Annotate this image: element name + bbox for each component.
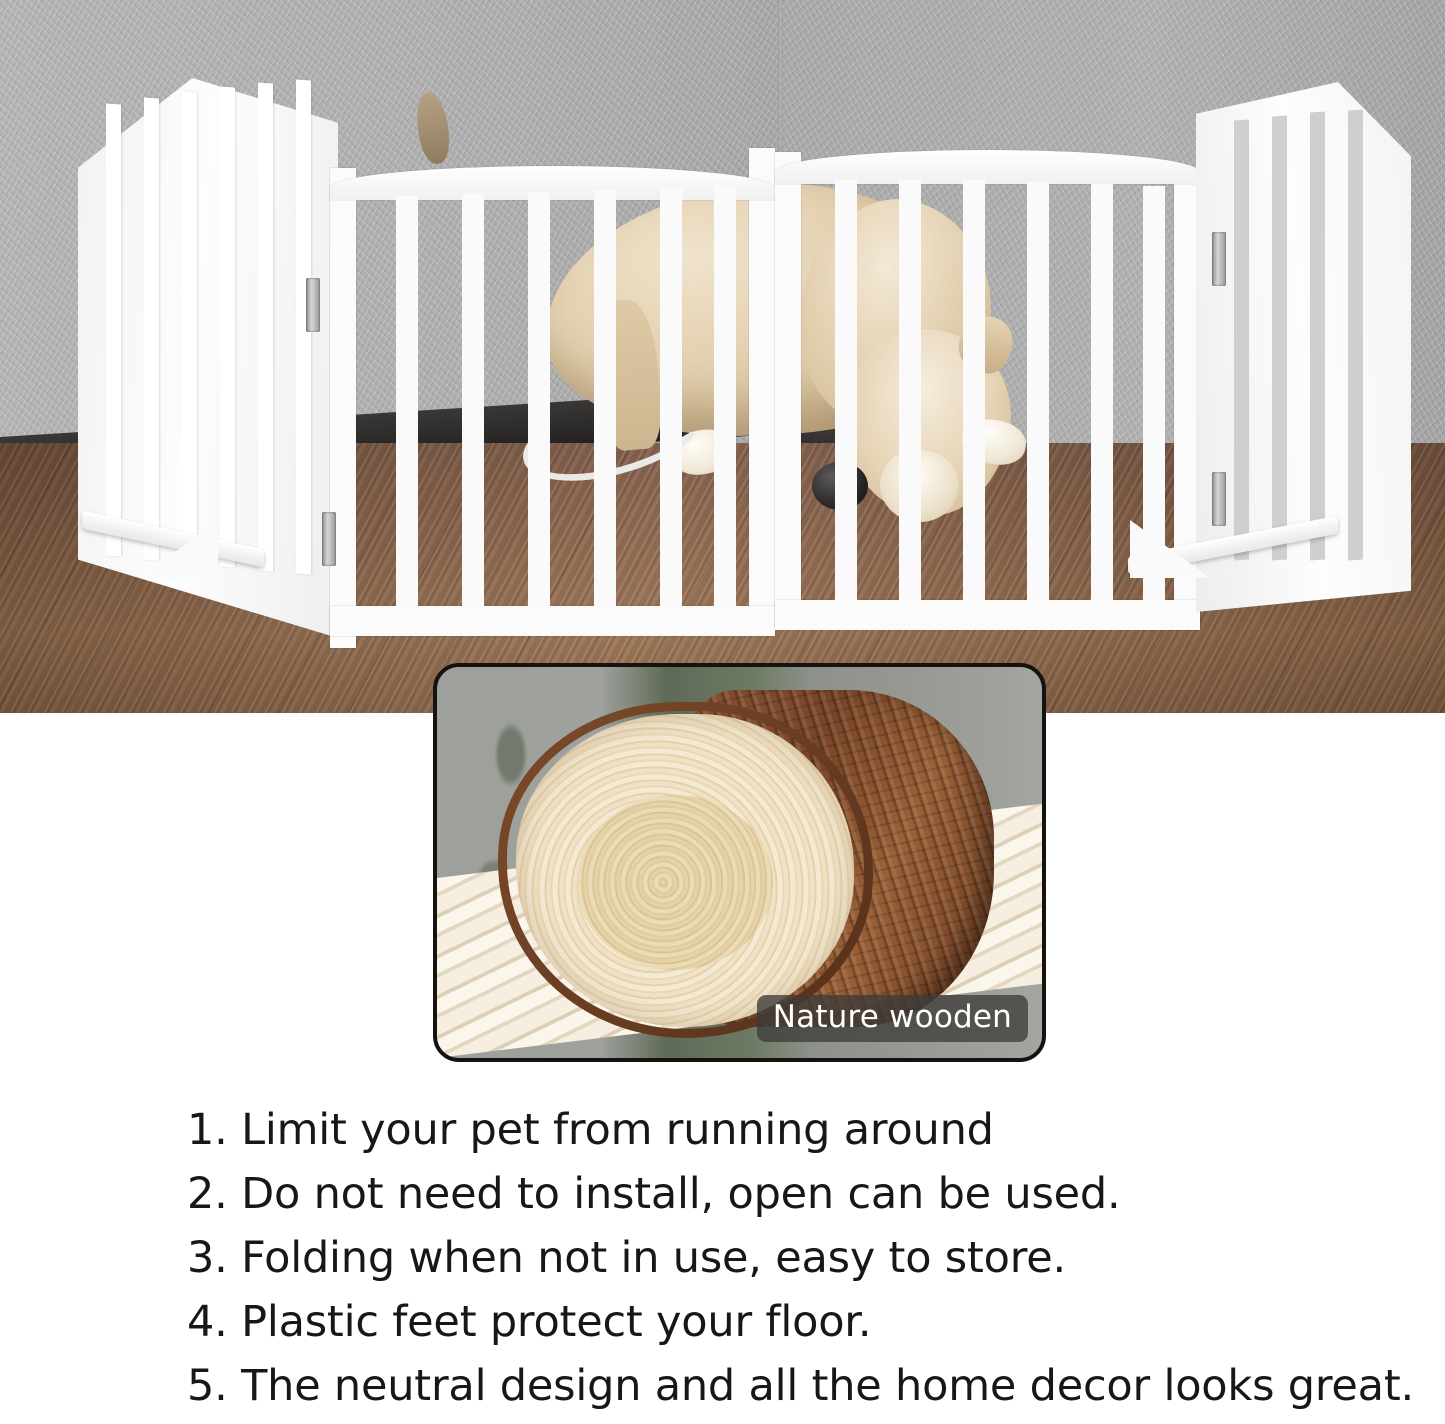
gate-slat	[835, 180, 857, 604]
gate-slat	[1027, 182, 1049, 604]
log-bark-rim	[498, 702, 873, 1038]
hero-product-photo	[0, 0, 1445, 713]
gate-slat	[1091, 184, 1113, 604]
gate-slat	[396, 196, 418, 610]
feature-item-4: 4. Plastic feet protect your floor.	[187, 1290, 1417, 1354]
gate-stile-left	[775, 152, 801, 628]
gate-slat	[660, 188, 682, 610]
gate-slat	[528, 192, 550, 610]
gate-slat	[258, 83, 273, 572]
gate-slat	[462, 194, 484, 610]
feature-list: 1. Limit your pet from running around 2.…	[187, 1098, 1417, 1418]
gate-slat	[963, 180, 985, 604]
gate-slat-gap	[1310, 111, 1325, 560]
gate-slat-gap	[1272, 115, 1287, 560]
gate-bottom-rail	[775, 600, 1200, 630]
gate-slat	[144, 98, 159, 561]
gate-stile-left	[330, 168, 356, 648]
feature-item-3: 3. Folding when not in use, easy to stor…	[187, 1226, 1417, 1290]
gate-slat-gap	[1234, 119, 1249, 560]
gate-stile-right	[749, 148, 775, 628]
feature-item-1: 1. Limit your pet from running around	[187, 1098, 1417, 1162]
gate-slat	[220, 87, 235, 568]
gate-top-rail	[330, 166, 775, 200]
gate-slat	[899, 180, 921, 604]
hinge-icon	[306, 278, 320, 332]
hinge-icon	[1212, 472, 1226, 526]
hinge-icon	[322, 512, 336, 566]
gate-slat	[594, 190, 616, 610]
gate-bottom-rail	[330, 606, 775, 636]
gate-top-rail	[775, 150, 1200, 184]
hinge-icon	[1212, 232, 1226, 286]
gate-panel-2	[330, 128, 775, 648]
gate-slat	[106, 104, 121, 557]
gate-slat	[714, 186, 736, 610]
gate-slat-gap	[1348, 109, 1363, 560]
feature-item-2: 2. Do not need to install, open can be u…	[187, 1162, 1417, 1226]
nature-wooden-badge: Nature wooden	[757, 995, 1028, 1042]
inset-photo-nature-wooden: Nature wooden	[433, 663, 1046, 1062]
feature-item-5: 5. The neutral design and all the home d…	[187, 1354, 1417, 1418]
gate-slat	[182, 92, 197, 565]
